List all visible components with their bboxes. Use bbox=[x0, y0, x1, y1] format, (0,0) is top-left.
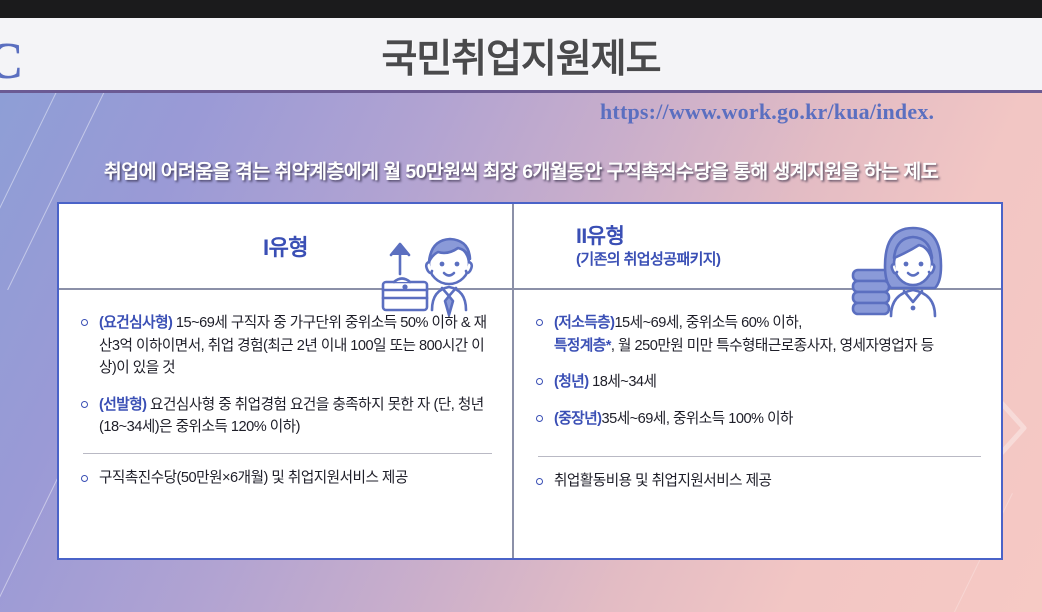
type-2-bullet-2-tag: (청년) bbox=[554, 374, 589, 390]
type-2-bullet-list: (저소득층)15세~69세, 중위소득 60% 이하, 특정계층*, 월 250… bbox=[534, 312, 985, 430]
woman-with-coin-stack-icon bbox=[847, 222, 965, 320]
page-title: 국민취업지원제도 bbox=[0, 28, 1042, 84]
slide-root: 국민취업지원제도 C https://www.work.go.kr/kua/in… bbox=[0, 0, 1042, 612]
column-type-2: II유형 (기존의 취업성공패키지) bbox=[512, 204, 1001, 558]
type-2-divider bbox=[538, 456, 981, 457]
type-1-bullet-1: (요건심사형) 15~69세 구직자 중 가구단위 중위소득 50% 이하 & … bbox=[79, 312, 496, 380]
program-url[interactable]: https://www.work.go.kr/kua/index. bbox=[600, 99, 1042, 125]
top-black-bar bbox=[0, 0, 1042, 18]
type-2-title: II유형 bbox=[576, 220, 624, 250]
type-2-bullet-2: (청년) 18세~34세 bbox=[534, 371, 985, 394]
type-2-bullet-3-text: 35세~69세, 중위소득 100% 이하 bbox=[602, 411, 793, 427]
type-2-subtitle: (기존의 취업성공패키지) bbox=[576, 248, 720, 269]
program-types-card: I유형 bbox=[57, 202, 1003, 560]
type-2-bullet-1-highlight: 특정계층* bbox=[554, 338, 611, 354]
type-2-bullet-1-text2: , 월 250만원 미만 특수형태근로종사자, 영세자영업자 등 bbox=[611, 338, 934, 354]
type-1-bullet-2-text: 요건심사형 중 취업경험 요건을 충족하지 못한 자 (단, 청년(18~34세… bbox=[99, 397, 484, 436]
type-2-footer: 취업활동비용 및 취업지원서비스 제공 bbox=[534, 471, 985, 493]
type-1-bullet-1-tag: (요건심사형) bbox=[99, 315, 172, 331]
type-1-divider bbox=[83, 453, 492, 454]
type-1-footer: 구직촉진수당(50만원×6개월) 및 취업지원서비스 제공 bbox=[79, 468, 496, 490]
type-1-bullet-list: (요건심사형) 15~69세 구직자 중 가구단위 중위소득 50% 이하 & … bbox=[79, 312, 496, 439]
businessman-with-briefcase-and-up-arrow-icon bbox=[374, 226, 492, 322]
edge-partial-glyph: C bbox=[0, 36, 24, 88]
column-body-type-2: (저소득층)15세~69세, 중위소득 60% 이하, 특정계층*, 월 250… bbox=[514, 290, 1001, 493]
type-1-bullet-2-tag: (선발형) bbox=[99, 397, 147, 413]
title-band: 국민취업지원제도 bbox=[0, 18, 1042, 93]
type-2-bullet-2-text: 18세~34세 bbox=[589, 374, 657, 390]
column-type-1: I유형 bbox=[59, 204, 512, 558]
type-2-bullet-3: (중장년)35세~69세, 중위소득 100% 이하 bbox=[534, 408, 985, 431]
type-2-bullet-1-text: 15세~69세, 중위소득 60% 이하, bbox=[614, 315, 801, 331]
lead-description: 취업에 어려움을 겪는 취약계층에게 월 50만원씩 최장 6개월동안 구직촉직… bbox=[0, 155, 1042, 184]
type-2-bullet-3-tag: (중장년) bbox=[554, 411, 602, 427]
type-1-bullet-2: (선발형) 요건심사형 중 취업경험 요건을 충족하지 못한 자 (단, 청년(… bbox=[79, 394, 496, 439]
type-2-bullet-1-tag: (저소득층) bbox=[554, 315, 614, 331]
